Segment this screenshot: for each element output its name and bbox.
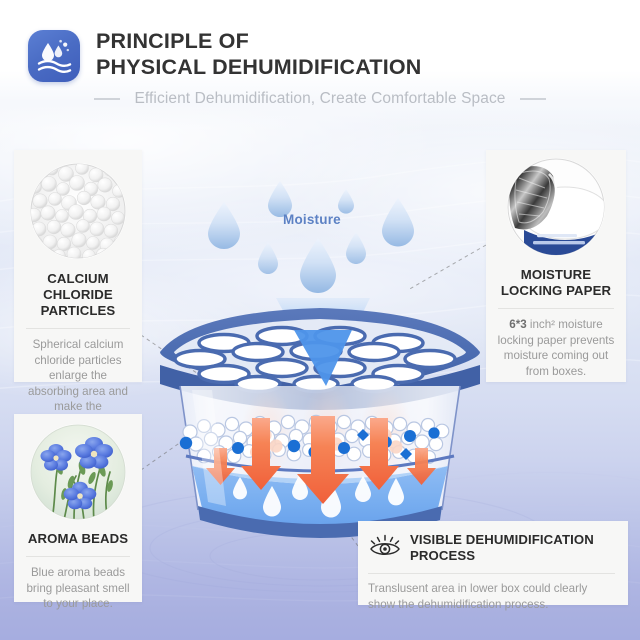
subtitle-row: Efficient Dehumidification, Create Comfo… bbox=[0, 90, 640, 108]
subtitle-dash-right bbox=[520, 98, 546, 100]
blue-flax-flowers-photo bbox=[30, 424, 126, 520]
page-title: PRINCIPLE OF PHYSICAL DEHUMIDIFICATION bbox=[96, 28, 422, 80]
moisture-locking-paper-photo bbox=[507, 158, 605, 256]
page-subtitle: Efficient Dehumidification, Create Comfo… bbox=[134, 90, 505, 108]
card-paper-divider bbox=[498, 308, 614, 309]
card-calcium-chloride[interactable]: CALCIUM CHLORIDE PARTICLES Spherical cal… bbox=[14, 150, 142, 382]
card-moisture-locking-paper[interactable]: MOISTURE LOCKING PAPER 6*3 inch² moistur… bbox=[486, 150, 626, 382]
card-aroma-beads[interactable]: AROMA BEADS Blue aroma beads bring pleas… bbox=[14, 414, 142, 602]
card-paper-title: MOISTURE LOCKING PAPER bbox=[496, 267, 616, 299]
water-drop-wave-icon bbox=[28, 30, 80, 82]
card-visible-header: VISIBLE DEHUMIDIFICATION PROCESS bbox=[368, 532, 615, 564]
card-calcium-title: CALCIUM CHLORIDE PARTICLES bbox=[24, 271, 132, 319]
card-paper-body-strong: 6*3 bbox=[509, 318, 526, 331]
moisture-droplets bbox=[208, 181, 414, 293]
subtitle-dash-left bbox=[94, 98, 120, 100]
card-visible-process[interactable]: VISIBLE DEHUMIDIFICATION PROCESS Translu… bbox=[358, 521, 628, 605]
card-visible-divider bbox=[368, 573, 615, 574]
page-title-line2: PHYSICAL DEHUMIDIFICATION bbox=[96, 54, 422, 80]
card-aroma-title: AROMA BEADS bbox=[24, 531, 132, 547]
infographic-canvas: PRINCIPLE OF PHYSICAL DEHUMIDIFICATION E… bbox=[0, 0, 640, 640]
calcium-chloride-beads-photo bbox=[30, 163, 126, 259]
header: PRINCIPLE OF PHYSICAL DEHUMIDIFICATION E… bbox=[0, 0, 640, 128]
card-aroma-body: Blue aroma beads bring pleasant smell to… bbox=[24, 565, 132, 612]
product-body bbox=[180, 384, 460, 538]
card-paper-body: 6*3 inch² moisture locking paper prevent… bbox=[496, 317, 616, 379]
card-visible-body: Translusent area in lower box could clea… bbox=[368, 581, 615, 612]
page-title-line1: PRINCIPLE OF bbox=[96, 28, 422, 54]
card-calcium-divider bbox=[26, 328, 130, 329]
moisture-label: Moisture bbox=[283, 212, 341, 227]
card-aroma-divider bbox=[26, 556, 130, 557]
eye-icon bbox=[368, 533, 402, 564]
card-visible-title: VISIBLE DEHUMIDIFICATION PROCESS bbox=[410, 532, 615, 564]
dehumidifier-illustration bbox=[148, 180, 492, 540]
